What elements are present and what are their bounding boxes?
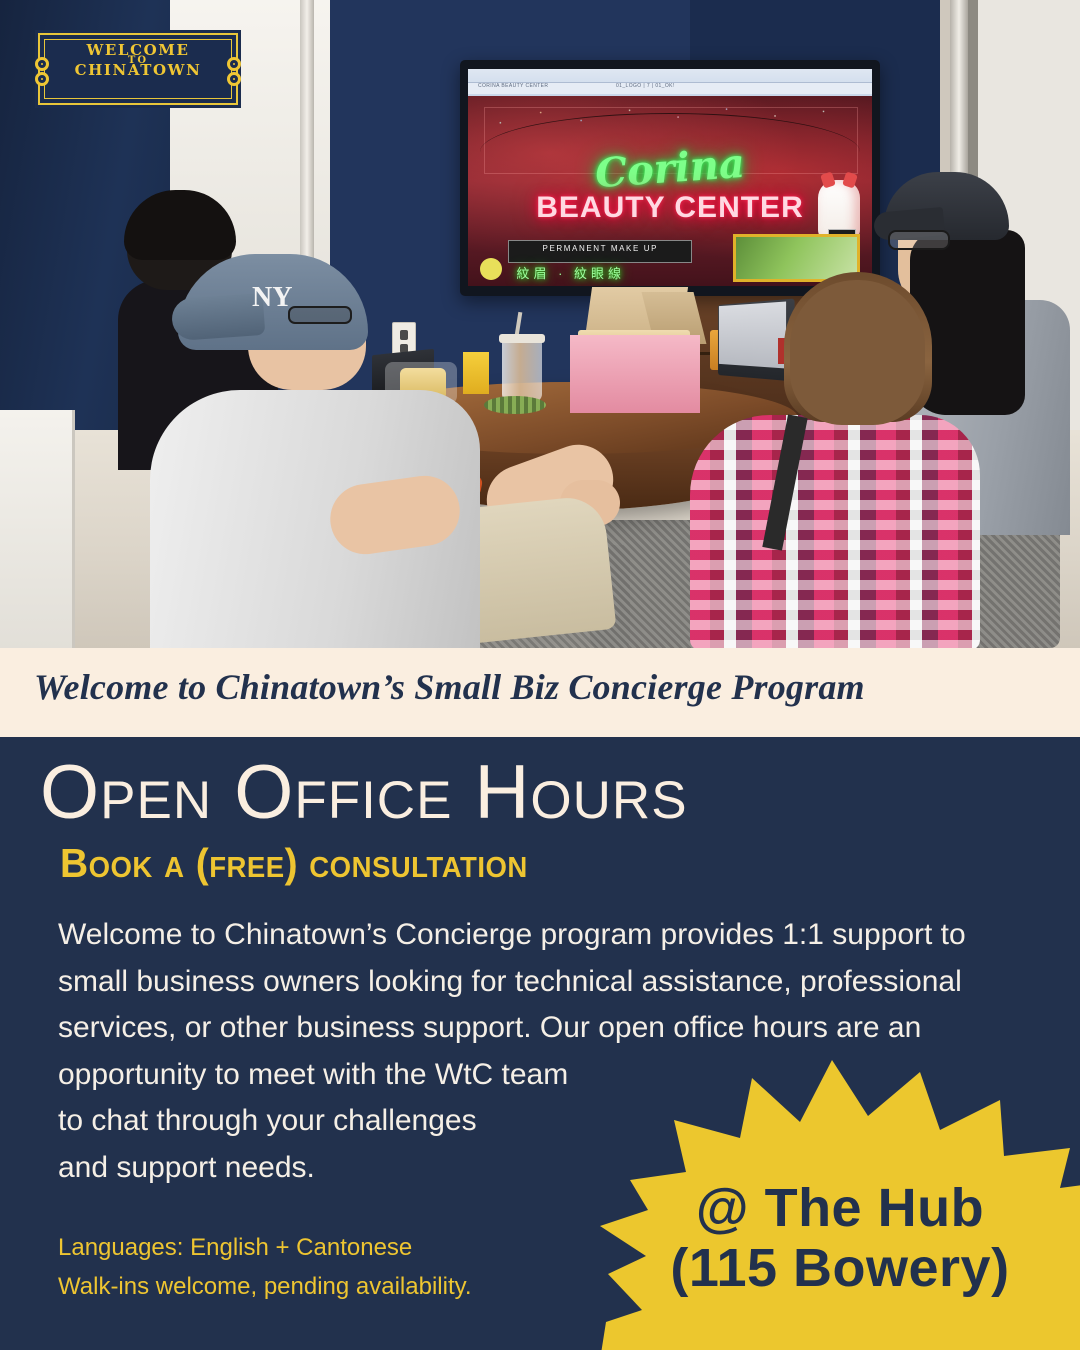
- photo-coaster: [484, 396, 546, 414]
- photo-attendee-right-head: [790, 280, 925, 425]
- photo-laptop-screen: [719, 301, 786, 368]
- walkins-note: Walk-ins welcome, pending availability.: [58, 1268, 472, 1307]
- location-badge-text: @ The Hub (115 Bowery): [600, 1178, 1080, 1299]
- page-subtitle: Book a (free) consultation: [60, 843, 528, 884]
- languages-note: Languages: English + Cantonese: [58, 1229, 472, 1268]
- photo-tv-toolbar: CORINA BEAUTY CENTER 01_LOGO | 7 | 01_OK…: [468, 69, 872, 96]
- logo-text: WELCOME TO CHINATOWN: [40, 43, 236, 79]
- page-title: Open Office Hours: [40, 755, 688, 831]
- photo-tv-neon-script: Corina: [594, 140, 747, 197]
- description-line-2: small business owners looking for techni…: [58, 959, 1018, 1006]
- photo-attendee-left-cap-logo: NY: [252, 282, 292, 314]
- description-line-3: services, or other business support. Our…: [58, 1005, 1018, 1052]
- tagline-band: Welcome to Chinatown’s Small Biz Concier…: [0, 648, 1080, 737]
- photo-tv-sub-sign: PERMANENT MAKE UP: [508, 240, 692, 263]
- event-photo: Corina BEAUTY CENTER PERMANENT MAKE UP 紋…: [0, 0, 1080, 648]
- photo-staff-glasses: [888, 230, 950, 250]
- notes-block: Languages: English + Cantonese Walk-ins …: [58, 1229, 472, 1307]
- photo-tv-toolbar-label-right: 01_LOGO | 7 | 01_OK!: [616, 83, 675, 89]
- flyer-canvas: Corina BEAUTY CENTER PERMANENT MAKE UP 紋…: [0, 0, 1080, 1350]
- program-tagline: Welcome to Chinatown’s Small Biz Concier…: [34, 666, 865, 708]
- photo-tv-corner-logo: [480, 258, 502, 280]
- photo-yellow-box: [463, 352, 489, 394]
- photo-attendee-right-body: [690, 415, 980, 648]
- photo-drink-lid: [499, 334, 545, 343]
- photo-tv-neon-block: BEAUTY CENTER: [536, 191, 803, 225]
- photo-shelf-left: [0, 410, 75, 648]
- double-circle-ornament-left-icon: [34, 57, 50, 87]
- description-line-1: Welcome to Chinatown’s Concierge program…: [58, 912, 1018, 959]
- photo-attendee-left-glasses: [288, 306, 352, 324]
- photo-television: Corina BEAUTY CENTER PERMANENT MAKE UP 紋…: [460, 60, 880, 296]
- photo-pink-bakery-box: [570, 335, 700, 413]
- location-badge-line-2: (115 Bowery): [600, 1238, 1080, 1298]
- logo-line-3: CHINATOWN: [75, 61, 202, 79]
- photo-iced-drink: [502, 340, 542, 402]
- welcome-to-chinatown-logo: WELCOME TO CHINATOWN: [38, 33, 238, 105]
- location-badge-line-1: @ The Hub: [600, 1178, 1080, 1238]
- photo-tv-screen: Corina BEAUTY CENTER PERMANENT MAKE UP 紋…: [468, 69, 872, 286]
- photo-tv-toolbar-label-left: CORINA BEAUTY CENTER: [478, 83, 548, 89]
- double-circle-ornament-right-icon: [226, 57, 242, 87]
- photo-tv-chinese-sign: 紋眉 · 紋眼線: [516, 263, 625, 282]
- location-badge: @ The Hub (115 Bowery): [600, 1060, 1080, 1350]
- photo-tv-content: Corina BEAUTY CENTER PERMANENT MAKE UP 紋…: [468, 96, 872, 286]
